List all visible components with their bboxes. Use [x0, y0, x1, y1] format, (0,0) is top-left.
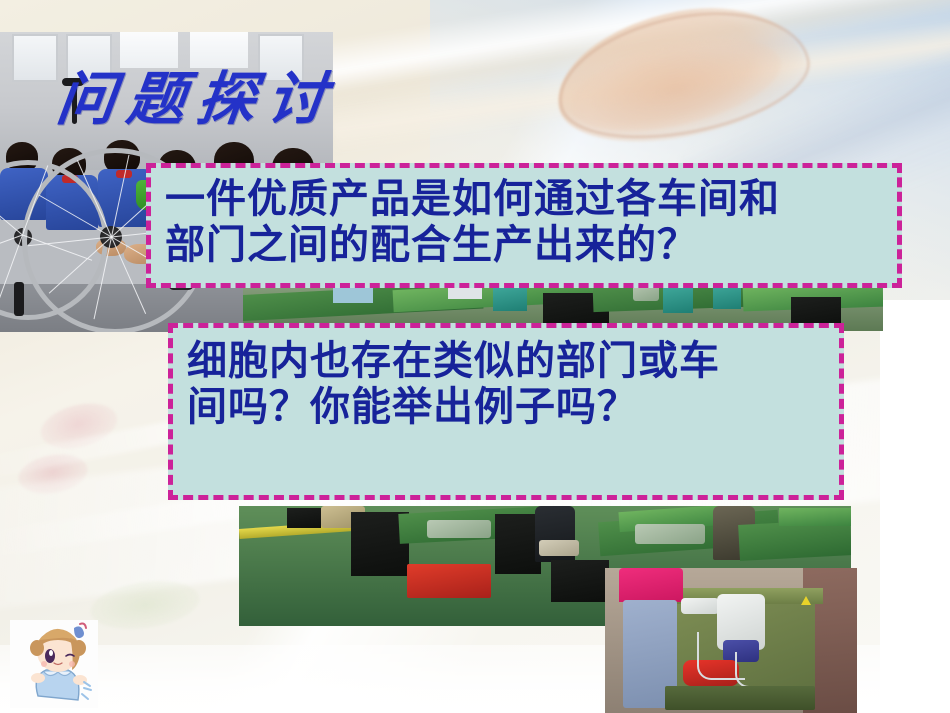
slide-canvas: 问题探讨 一件优质产品是如何通过各车间和 部门之间的配合生产出来的？ 细胞内也存…: [0, 0, 950, 713]
chibi-girl-clipart: [8, 618, 100, 710]
photo-sewing-machine-operator: [605, 568, 857, 713]
question-box-2: 细胞内也存在类似的部门或车 间吗？你能举出例子吗？: [168, 323, 844, 500]
question-box-1: 一件优质产品是如何通过各车间和 部门之间的配合生产出来的？: [146, 163, 902, 288]
question-box-1-text: 一件优质产品是如何通过各车间和 部门之间的配合生产出来的？: [151, 168, 897, 268]
slide-title: 问题探讨: [53, 52, 343, 136]
question-box-2-text: 细胞内也存在类似的部门或车 间吗？你能举出例子吗？: [173, 328, 839, 430]
